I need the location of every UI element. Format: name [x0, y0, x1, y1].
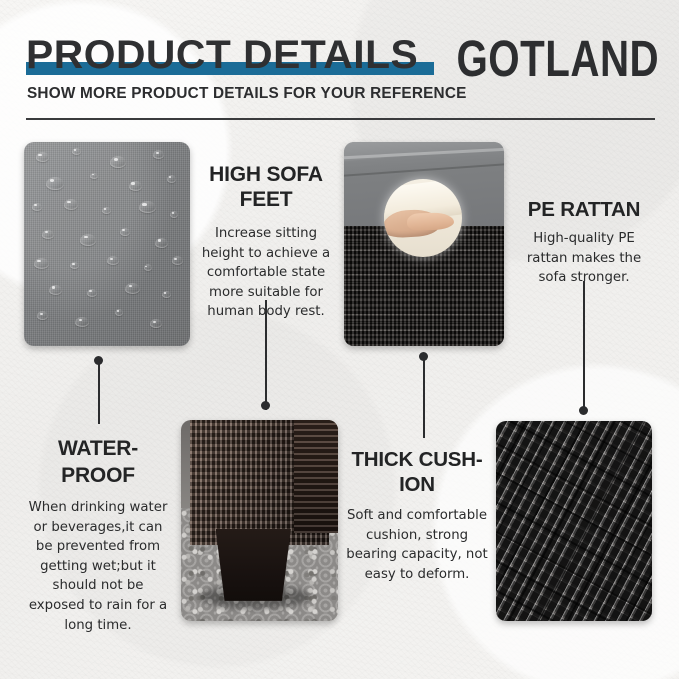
feature-body-thick-cushion: Soft and comfortable cushion, strong bea… — [344, 506, 490, 584]
connector-line — [583, 281, 585, 411]
page-subtitle: SHOW MORE PRODUCT DETAILS FOR YOUR REFER… — [27, 85, 467, 103]
feature-title-waterproof: WATER-PROOF — [24, 435, 172, 489]
waterproof-fabric-droplets-photo — [24, 142, 190, 346]
pe-rattan-hand-cushion-photo — [344, 142, 504, 346]
feature-waterproof: WATER-PROOF When drinking water or bever… — [24, 435, 172, 635]
sofa-foot-gravel-photo — [181, 420, 338, 621]
connector-line — [98, 360, 100, 424]
thick-cushion-weave-photo — [496, 421, 652, 621]
connector-dot — [261, 401, 270, 410]
feature-title-pe-rattan: PE RATTAN — [512, 198, 656, 222]
magnifier-circle-inset — [384, 179, 462, 257]
weave-block-pattern — [496, 421, 652, 621]
header: PRODUCT DETAILS GOTLAND SHOW MORE PRODUC… — [0, 0, 679, 122]
brand-logo: GOTLAND — [456, 32, 659, 86]
feature-pe-rattan: PE RATTAN High-quality PE rattan makes t… — [512, 198, 656, 288]
page-title-wrap: PRODUCT DETAILS — [26, 34, 411, 80]
hand-fingers — [407, 213, 454, 231]
cushion-edge — [344, 163, 504, 177]
feature-thick-cushion: THICK CUSH-ION Soft and comfortable cush… — [344, 447, 490, 584]
feature-body-waterproof: When drinking water or beverages,it can … — [24, 498, 172, 635]
feature-body-high-sofa-feet: Increase sitting height to achieve a com… — [196, 224, 336, 322]
cushion-seam — [344, 147, 504, 159]
connector-line — [423, 356, 425, 438]
feature-title-thick-cushion: THICK CUSH-ION — [344, 447, 490, 497]
page-title: PRODUCT DETAILS — [26, 34, 418, 76]
rattan-sofa-side — [294, 420, 338, 533]
sofa-plastic-foot — [216, 529, 291, 601]
connector-dot — [579, 406, 588, 415]
feature-title-high-sofa-feet: HIGH SOFA FEET — [196, 162, 336, 212]
water-droplets-group — [24, 142, 190, 346]
infographic-page: PRODUCT DETAILS GOTLAND SHOW MORE PRODUC… — [0, 0, 679, 679]
feature-body-pe-rattan: High-quality PE rattan makes the sofa st… — [512, 229, 656, 288]
feature-high-sofa-feet: HIGH SOFA FEET Increase sitting height t… — [196, 162, 336, 322]
header-divider — [26, 118, 655, 120]
